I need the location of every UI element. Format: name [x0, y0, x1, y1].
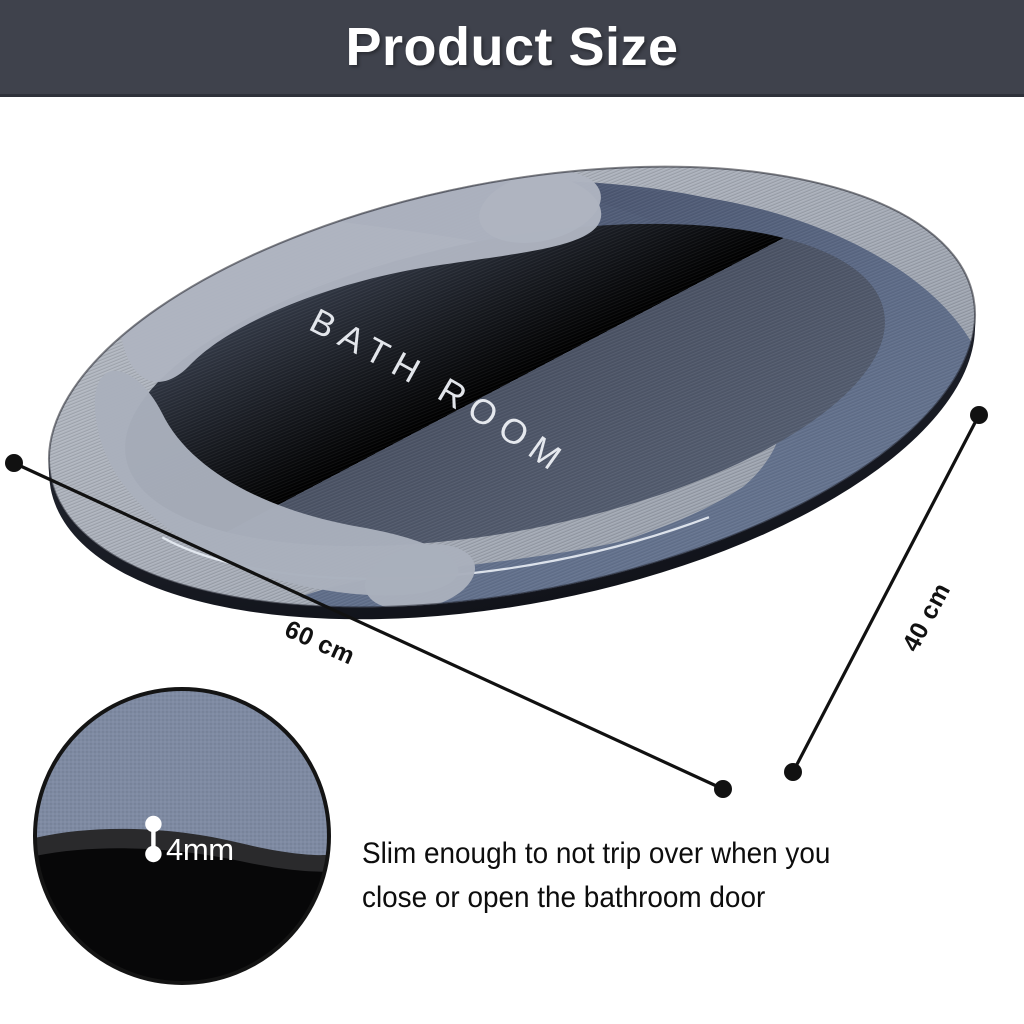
detail-base [30, 848, 335, 997]
feature-caption-line-2: close or open the bathroom door [362, 876, 943, 920]
product-illustration-stage: BATH ROOM 60 cm 40 cm [0, 97, 1024, 1024]
thickness-label: 4mm [166, 832, 234, 868]
page-title: Product Size [0, 0, 1024, 94]
feature-caption-line-1: Slim enough to not trip over when you [362, 832, 943, 876]
header-banner: Product Size [0, 0, 1024, 97]
feature-caption: Slim enough to not trip over when you cl… [362, 832, 943, 920]
